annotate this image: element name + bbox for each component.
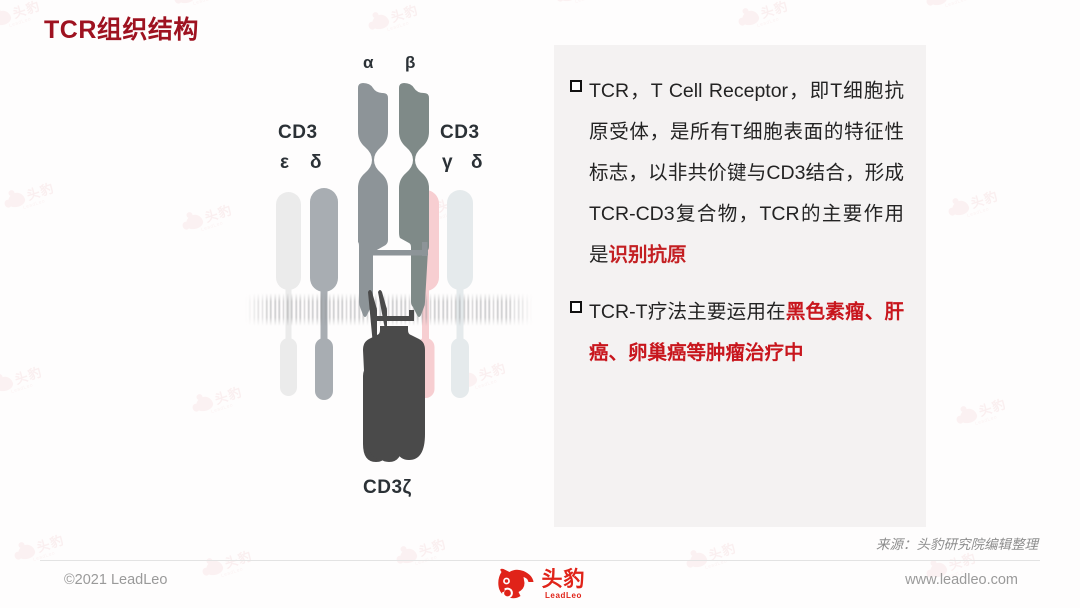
watermark-tile: 头豹 LeadLeo <box>0 365 46 399</box>
watermark-text: 头豹 <box>947 0 978 1</box>
watermark-subtext: LeadLeo <box>692 554 740 575</box>
watermark-text: 头豹 <box>13 365 44 387</box>
leopard-paw-icon <box>0 375 15 394</box>
bullet-square-icon <box>570 301 582 313</box>
watermark-text: 头豹 <box>417 537 448 559</box>
watermark-tile: 头豹 LeadLeo <box>688 541 740 575</box>
watermark-subtext: LeadLeo <box>562 0 610 9</box>
watermark-subtext: LeadLeo <box>374 16 422 37</box>
bullet-1-segment-normal: TCR，T Cell Receptor，即T细胞抗原受体，是所有T细胞表面的特征… <box>589 80 904 266</box>
copyright-text: ©2021 LeadLeo <box>64 572 167 588</box>
website-url[interactable]: www.leadleo.com <box>905 572 1018 588</box>
watermark-text: 头豹 <box>969 189 1000 211</box>
leopard-paw-icon <box>950 199 970 218</box>
leopard-paw-icon <box>6 191 26 210</box>
leopard-paw-icon <box>558 0 578 3</box>
description-panel: TCR，T Cell Receptor，即T细胞抗原受体，是所有T细胞表面的特征… <box>554 45 926 527</box>
tcr-alpha-chain <box>358 83 388 317</box>
watermark-subtext: LeadLeo <box>20 546 68 567</box>
watermark-text: 头豹 <box>35 533 66 555</box>
watermark-subtext: LeadLeo <box>932 0 980 13</box>
bullet-item-1: TCR，T Cell Receptor，即T细胞抗原受体，是所有T细胞表面的特征… <box>570 71 904 276</box>
logo-chinese-name: 头豹 <box>542 569 586 590</box>
watermark-subtext: LeadLeo <box>10 194 58 215</box>
watermark-tile: 头豹 LeadLeo <box>398 537 450 571</box>
watermark-text: 头豹 <box>25 181 56 203</box>
bullet-item-2: TCR-T疗法主要运用在黑色素瘤、肝癌、卵巢癌等肿瘤治疗中 <box>570 292 904 374</box>
logo-text-group: 头豹 LeadLeo <box>542 569 586 600</box>
tcr-alpha-beta-zeta-chains <box>200 40 550 520</box>
watermark-tile: 头豹 LeadLeo <box>950 189 1002 223</box>
cd3-zeta-chain <box>363 290 425 462</box>
watermark-subtext: LeadLeo <box>962 410 1010 431</box>
bullet-1-segment-highlight: 识别抗原 <box>609 244 687 266</box>
slide-canvas: 头豹 LeadLeo 头豹 LeadLeo 头豹 LeadLeo 头豹 Lead… <box>0 0 1080 608</box>
watermark-tile: 头豹 LeadLeo <box>16 533 68 567</box>
watermark-subtext: LeadLeo <box>744 12 792 33</box>
watermark-text: 头豹 <box>389 3 420 25</box>
watermark-text: 头豹 <box>11 0 42 21</box>
watermark-tile: 头豹 LeadLeo <box>928 0 980 13</box>
footer-divider <box>40 560 1040 561</box>
bullet-2-segment-normal: TCR-T疗法主要运用在 <box>589 301 786 323</box>
leopard-paw-icon <box>928 0 948 7</box>
watermark-tile: 头豹 LeadLeo <box>958 397 1010 431</box>
watermark-tile: 头豹 LeadLeo <box>0 0 44 33</box>
source-attribution: 来源：头豹研究院编辑整理 <box>876 533 1038 553</box>
leopard-head-icon <box>495 566 537 602</box>
watermark-tile: 头豹 LeadLeo <box>558 0 610 9</box>
watermark-text: 头豹 <box>947 551 978 573</box>
tcr-cd3-complex-diagram: α β CD3 ε δ CD3 γ δ CD3ζ <box>200 40 550 520</box>
bullet-square-icon <box>570 80 582 92</box>
page-title: TCR组织结构 <box>44 10 199 46</box>
watermark-tile: 头豹 LeadLeo <box>740 0 792 33</box>
watermark-text: 头豹 <box>977 397 1008 419</box>
leopard-paw-icon <box>204 559 224 578</box>
leopard-paw-icon <box>958 407 978 426</box>
watermark-subtext: LeadLeo <box>0 378 46 399</box>
watermark-tile: 头豹 LeadLeo <box>6 181 58 215</box>
leopard-paw-icon <box>176 0 196 5</box>
watermark-subtext: LeadLeo <box>954 202 1002 223</box>
watermark-text: 头豹 <box>759 0 790 21</box>
leopard-paw-icon <box>740 9 760 28</box>
leopard-paw-icon <box>16 543 36 562</box>
tcr-beta-chain <box>399 83 429 317</box>
watermark-tile: 头豹 LeadLeo <box>204 549 256 583</box>
leadleo-logo: 头豹 LeadLeo <box>495 566 586 602</box>
bullet-item-1-text: TCR，T Cell Receptor，即T细胞抗原受体，是所有T细胞表面的特征… <box>589 71 904 276</box>
watermark-tile: 头豹 LeadLeo <box>370 3 422 37</box>
logo-english-name: LeadLeo <box>545 592 582 600</box>
bullet-item-2-text: TCR-T疗法主要运用在黑色素瘤、肝癌、卵巢癌等肿瘤治疗中 <box>589 292 904 374</box>
leopard-paw-icon <box>0 9 13 28</box>
watermark-subtext: LeadLeo <box>208 562 256 583</box>
leopard-paw-icon <box>370 13 390 32</box>
watermark-subtext: LeadLeo <box>0 12 44 33</box>
leopard-paw-icon <box>398 547 418 566</box>
